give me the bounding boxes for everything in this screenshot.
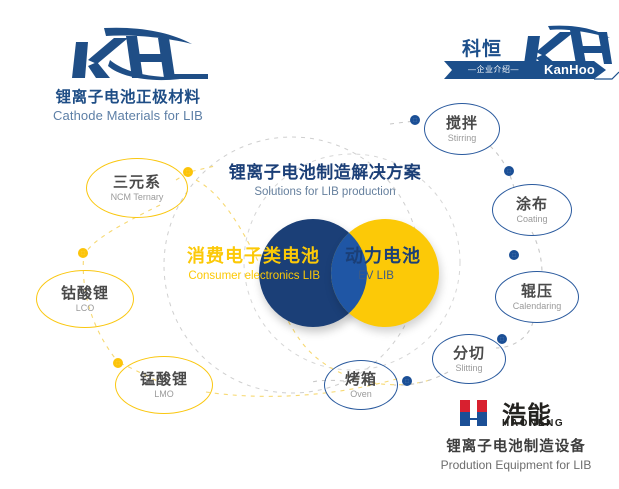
company-intro-ribbon: —企业介绍— KanHoo	[444, 58, 619, 82]
node-stirring-en: Stirring	[448, 132, 477, 144]
node-lco-en: LCO	[76, 302, 95, 314]
connector-dot-coating	[504, 166, 514, 176]
page-title: 锂离子电池制造解决方案 Solutions for LIB production	[210, 162, 440, 200]
node-slitting-cn: 分切	[453, 345, 485, 362]
connector-dot-lco	[78, 248, 88, 258]
node-lmo[interactable]: 锰酸锂 LMO	[115, 356, 213, 414]
node-lco-cn: 钴酸锂	[61, 285, 109, 302]
node-oven[interactable]: 烤箱 Oven	[324, 360, 398, 410]
node-calendaring-en: Calendaring	[513, 300, 562, 312]
node-lmo-en: LMO	[154, 388, 174, 400]
page-title-en: Solutions for LIB production	[210, 184, 440, 200]
venn-label-consumer-en: Consumer electronics LIB	[160, 268, 320, 284]
connector-dot-ncm	[183, 167, 193, 177]
node-ncm-ternary-en: NCM Ternary	[111, 191, 164, 203]
haoneng-caption-cn: 锂离子电池制造设备	[418, 438, 614, 457]
venn-label-ev-en: EV LIB	[345, 268, 407, 284]
left-brand-caption: 锂离子电池正极材料 Cathode Materials for LIB	[28, 88, 228, 124]
connector-dot-calendaring	[509, 250, 519, 260]
venn-label-consumer-cn: 消费电子类电池	[160, 244, 320, 268]
node-ncm-ternary[interactable]: 三元系 NCM Ternary	[86, 158, 188, 218]
node-slitting[interactable]: 分切 Slitting	[432, 334, 506, 384]
connector-dot-stirring	[410, 115, 420, 125]
node-ncm-ternary-cn: 三元系	[113, 174, 161, 191]
kh-monogram-logo	[64, 22, 214, 84]
haoneng-logo-en: HAONENG	[502, 418, 564, 429]
haoneng-caption-en: Prodution Equipment for LIB	[418, 457, 614, 473]
page-title-cn: 锂离子电池制造解决方案	[210, 162, 440, 184]
venn-label-ev-cn: 动力电池	[345, 244, 465, 268]
node-oven-en: Oven	[350, 388, 372, 400]
node-calendaring[interactable]: 辊压 Calendaring	[495, 271, 579, 323]
node-stirring-cn: 搅拌	[446, 115, 478, 132]
left-brand-caption-cn: 锂离子电池正极材料	[28, 88, 228, 107]
venn-label-consumer: 消费电子类电池 Consumer electronics LIB	[160, 244, 320, 284]
connector-dot-slitting	[497, 334, 507, 344]
node-slitting-en: Slitting	[455, 362, 482, 374]
connector-dot-lmo	[113, 358, 123, 368]
haoneng-caption: 锂离子电池制造设备 Prodution Equipment for LIB	[418, 438, 614, 473]
node-coating-en: Coating	[516, 213, 547, 225]
node-calendaring-cn: 辊压	[521, 283, 553, 300]
node-coating-cn: 涂布	[516, 196, 548, 213]
node-coating[interactable]: 涂布 Coating	[492, 184, 572, 236]
connector-dot-oven	[402, 376, 412, 386]
haoneng-logo-mark	[460, 398, 496, 428]
kanhoo-logo-cn: 科恒	[462, 34, 502, 61]
venn-label-ev: 动力电池 EV LIB	[345, 244, 465, 284]
ribbon-label-cn: —企业介绍—	[468, 64, 519, 75]
node-stirring[interactable]: 搅拌 Stirring	[424, 103, 500, 155]
node-oven-cn: 烤箱	[345, 371, 377, 388]
haoneng-brand-block: 浩能 HAONENG 锂离子电池制造设备 Prodution Equipment…	[418, 396, 614, 473]
left-brand-caption-en: Cathode Materials for LIB	[28, 107, 228, 124]
infographic-canvas: 锂离子电池正极材料 Cathode Materials for LIB 科恒 —…	[0, 0, 619, 489]
ribbon-label-en: KanHoo	[544, 62, 595, 77]
node-lmo-cn: 锰酸锂	[140, 371, 188, 388]
node-lco[interactable]: 钴酸锂 LCO	[36, 270, 134, 328]
